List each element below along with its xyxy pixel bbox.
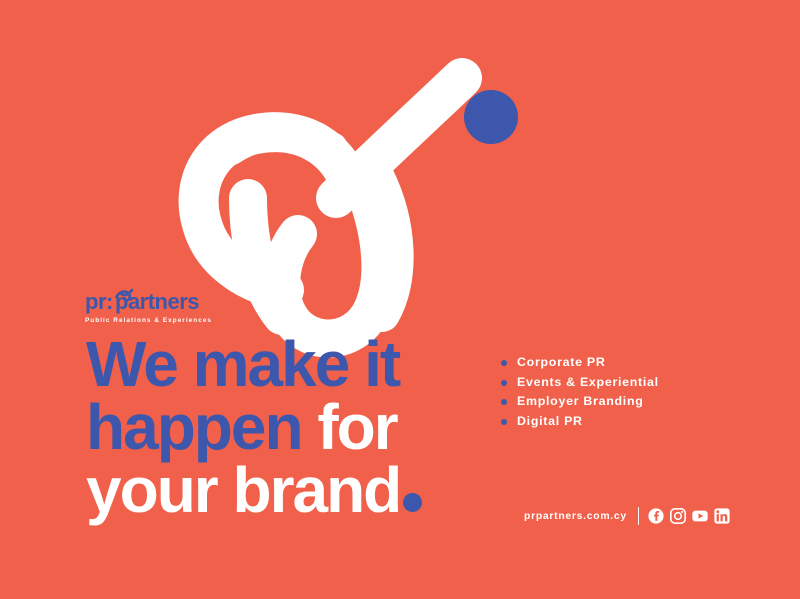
list-item: Employer Branding [501,392,659,412]
headline-line-2: happen for [86,396,506,459]
instagram-icon[interactable] [670,508,686,524]
headline-line-2-white: for [317,391,396,463]
accent-dot [464,90,518,144]
headline-line-2-blue: happen [86,391,302,463]
linkedin-icon[interactable] [714,508,730,524]
headline-line-1: We make it [86,333,506,396]
list-item: Digital PR [501,412,659,432]
headline-line-3: your brand [86,459,506,522]
headline: We make it happen for your brand [86,333,506,522]
youtube-icon[interactable] [692,508,708,524]
services-list: Corporate PR Events & Experiential Emplo… [501,353,659,431]
social-links [648,508,730,524]
svg-text:pr:: pr: [85,289,113,314]
list-item: Events & Experiential [501,373,659,393]
list-item: Corporate PR [501,353,659,373]
footer: prpartners.com.cy [524,505,730,527]
footer-divider [638,507,639,525]
logo-wordmark: pr: partners [85,288,300,314]
website-url[interactable]: prpartners.com.cy [524,511,627,522]
facebook-icon[interactable] [648,508,664,524]
headline-period [403,493,422,512]
logo-lockup: pr: partners Public Relations & Experien… [85,288,300,326]
headline-line-3-white: your brand [86,454,400,526]
logo-tagline: Public Relations & Experiences [85,316,300,326]
poster-canvas: pr: partners Public Relations & Experien… [0,0,800,599]
